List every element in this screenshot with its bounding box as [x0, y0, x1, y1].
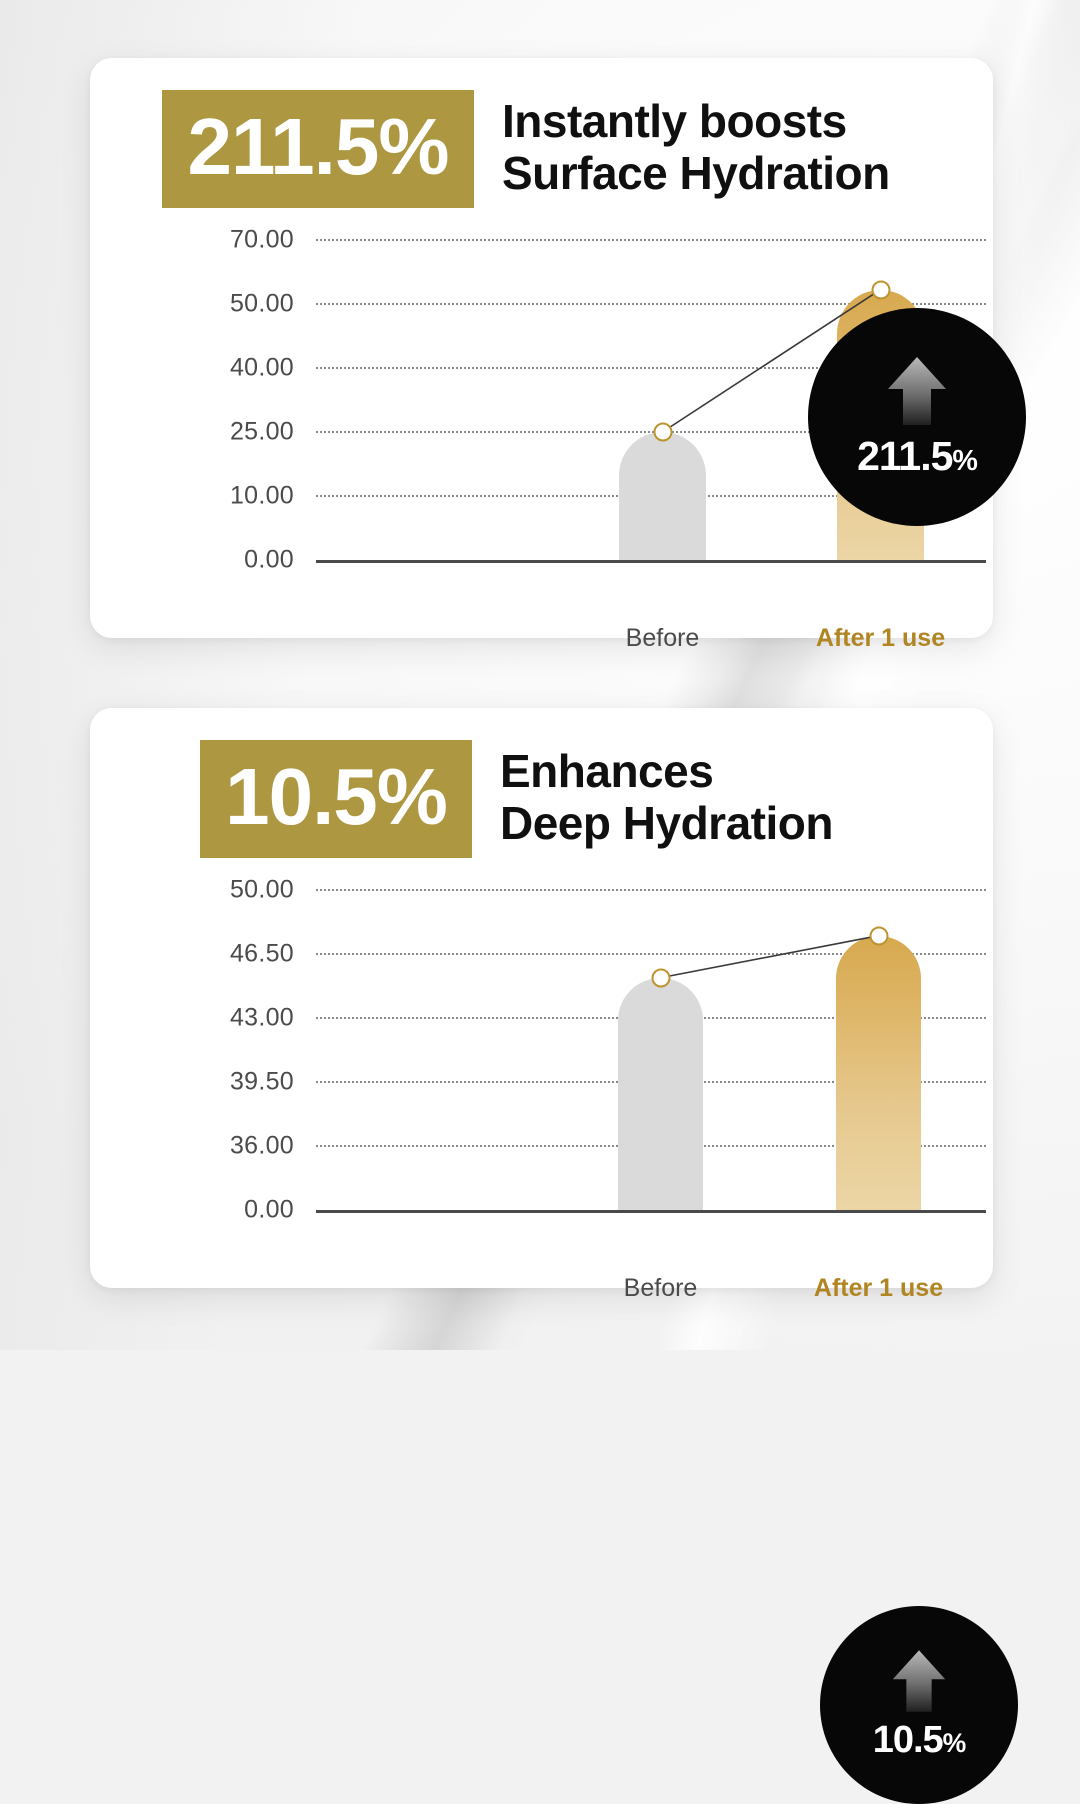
percent-symbol: % [952, 445, 977, 478]
y-axis-tick-label: 43.00 [230, 1004, 294, 1033]
y-axis-tick-label: 10.00 [230, 482, 294, 511]
stat-card-surface-hydration: 211.5% Instantly boosts Surface Hydratio… [90, 58, 993, 638]
data-point-marker [871, 280, 890, 299]
y-axis-tick-label: 0.00 [244, 1196, 294, 1225]
increase-number: 10.5 [873, 1719, 943, 1762]
up-arrow-icon [891, 1648, 947, 1714]
y-axis-tick-label: 25.00 [230, 418, 294, 447]
percent-badge: 211.5% [162, 90, 474, 208]
x-axis-tick-label: Before [624, 1274, 698, 1303]
y-axis-tick-label: 39.50 [230, 1068, 294, 1097]
data-point-marker [651, 968, 670, 987]
data-point-marker [653, 423, 672, 442]
y-axis-tick-label: 50.00 [230, 876, 294, 905]
stat-card-deep-hydration: 10.5% Enhances Deep Hydration 50.0046.50… [90, 708, 993, 1288]
y-axis-tick-label: 50.00 [230, 290, 294, 319]
y-axis-tick-label: 0.00 [244, 546, 294, 575]
bar-chart: 50.0046.5043.0039.5036.000.00 BeforeAfte… [176, 878, 986, 1278]
x-axis-tick-label: After 1 use [816, 624, 945, 653]
data-point-marker [869, 926, 888, 945]
y-axis-tick-label: 46.50 [230, 940, 294, 969]
x-axis-tick-label: After 1 use [814, 1274, 943, 1303]
card-header: 211.5% Instantly boosts Surface Hydratio… [162, 90, 890, 208]
percent-symbol: % [943, 1728, 966, 1759]
x-axis-tick-label: Before [626, 624, 700, 653]
page-title: Enhances Deep Hydration [500, 746, 833, 849]
increase-value: 211.5% [857, 433, 977, 480]
y-axis-tick-label: 36.00 [230, 1132, 294, 1161]
y-axis-tick-label: 40.00 [230, 354, 294, 383]
trend-connector-line [316, 878, 1016, 1278]
plot-area: BeforeAfter 1 use [316, 878, 986, 1278]
card-header: 10.5% Enhances Deep Hydration [200, 740, 833, 858]
increase-badge: 10.5% [820, 1606, 1018, 1804]
percent-badge: 10.5% [200, 740, 472, 858]
y-axis-labels: 50.0046.5043.0039.5036.000.00 [176, 878, 294, 1278]
y-axis-tick-label: 70.00 [230, 226, 294, 255]
y-axis-labels: 70.0050.0040.0025.0010.000.00 [176, 228, 294, 628]
increase-value: 10.5% [873, 1719, 966, 1762]
page-title: Instantly boosts Surface Hydration [502, 96, 890, 199]
increase-number: 211.5 [857, 433, 952, 480]
increase-badge: 211.5% [808, 308, 1026, 526]
up-arrow-icon [886, 355, 948, 427]
